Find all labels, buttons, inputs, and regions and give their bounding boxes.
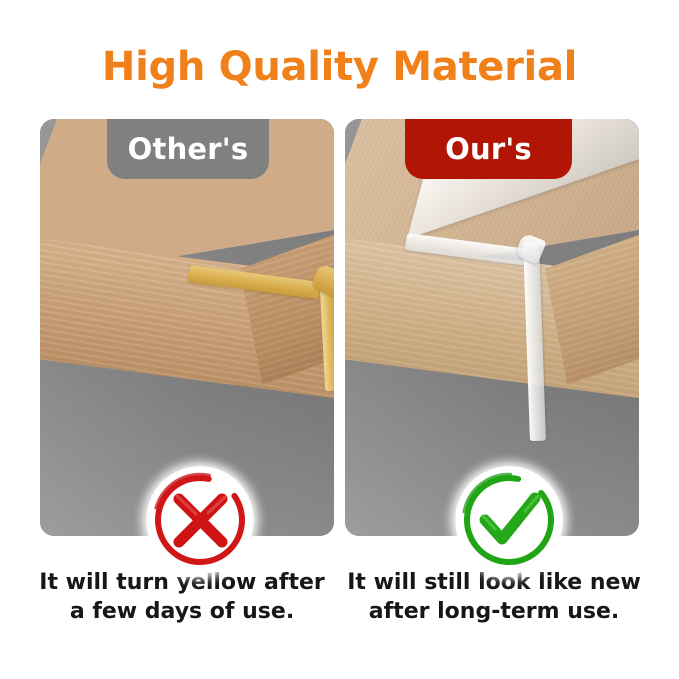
- badge-other-label: Other's: [128, 132, 249, 166]
- caption-ours-line2: after long-term use.: [334, 597, 654, 626]
- caption-ours: It will still look like new after long-t…: [334, 568, 654, 626]
- page-title: High Quality Material: [0, 44, 679, 90]
- check-icon: [455, 466, 563, 574]
- badge-ours: Our's: [405, 119, 572, 179]
- badge-other: Other's: [107, 119, 269, 179]
- comparison-infographic: High Quality Material Other's: [0, 0, 679, 679]
- caption-other-line2: a few days of use.: [22, 597, 342, 626]
- check-icon-glyph: [455, 466, 563, 574]
- cross-icon: [146, 466, 254, 574]
- badge-ours-label: Our's: [445, 132, 532, 166]
- caption-other: It will turn yellow after a few days of …: [22, 568, 342, 626]
- cross-icon-glyph: [146, 466, 254, 574]
